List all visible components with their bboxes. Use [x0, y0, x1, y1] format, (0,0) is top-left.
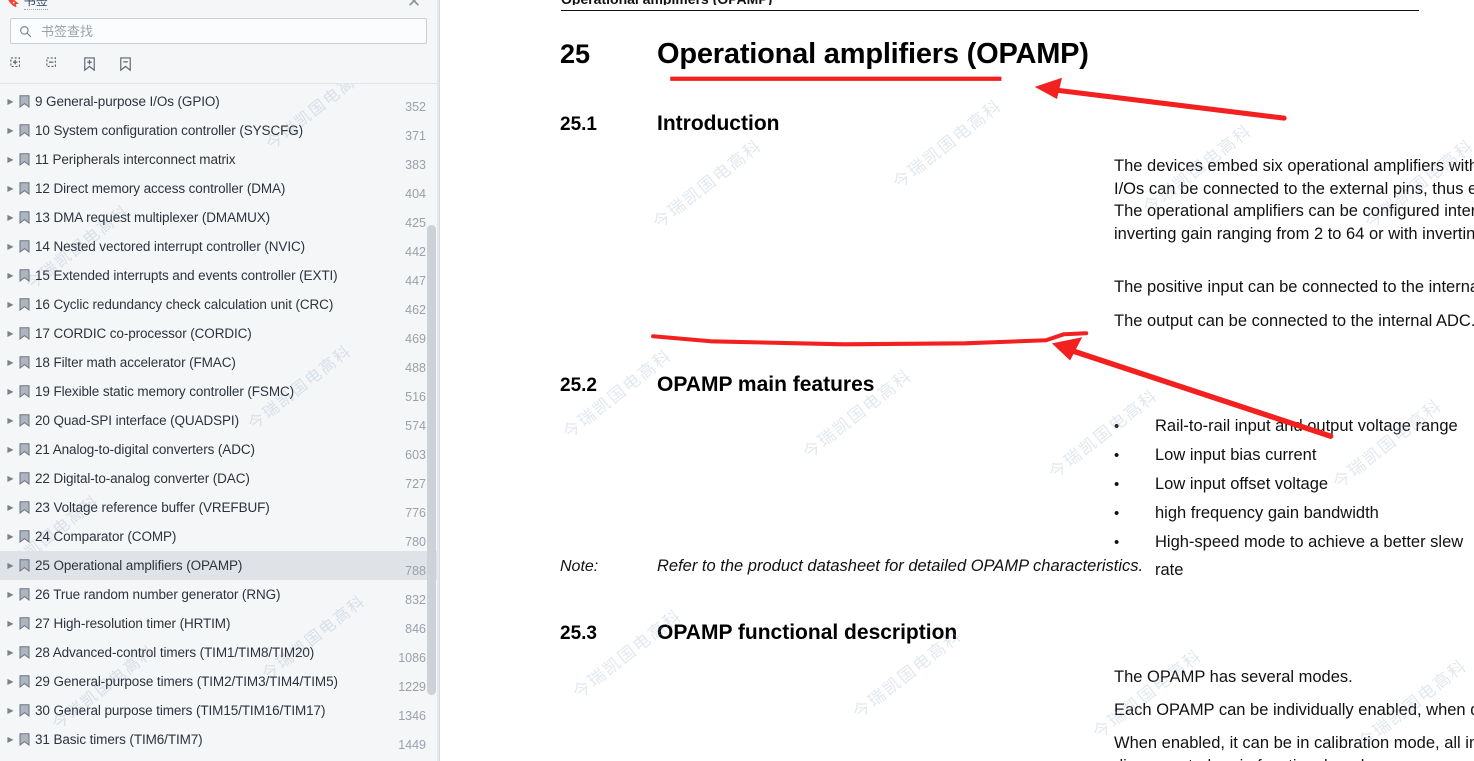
feature-bullet: •high frequency gain bandwidth [1114, 499, 1474, 528]
search-area [0, 12, 439, 44]
bookmark-label: 23 Voltage reference buffer (VREFBUF) [32, 500, 405, 515]
bookmark-icon [17, 327, 32, 340]
bookmark-label: 11 Peripherals interconnect matrix [32, 152, 405, 167]
watermark: 今瑞凯国电高科 [566, 602, 686, 704]
bookmark-row[interactable]: ▶25 Operational amplifiers (OPAMP)788 [0, 551, 439, 580]
bookmark-row[interactable]: ▶21 Analog-to-digital converters (ADC)60… [0, 435, 439, 464]
bookmark-label: 22 Digital-to-analog converter (DAC) [32, 471, 405, 486]
bookmark-label: 10 System configuration controller (SYSC… [32, 123, 405, 138]
tab-bookmarks[interactable]: 🔖 书签 [6, 0, 48, 10]
bookmark-icon [17, 617, 32, 630]
note-label: Note: [560, 558, 657, 576]
add-bookmark-icon[interactable] [78, 53, 100, 75]
bookmark-label: 14 Nested vectored interrupt controller … [32, 239, 405, 254]
bookmark-icon [17, 646, 32, 659]
watermark: 今瑞凯国电高科 [1086, 642, 1206, 744]
heading-25-number: 25 [560, 39, 657, 70]
bookmark-row[interactable]: ▶17 CORDIC co-processor (CORDIC)469 [0, 319, 439, 348]
remove-bookmark-icon[interactable] [114, 53, 136, 75]
bookmark-label: 24 Comparator (COMP) [32, 529, 405, 544]
chevron-right-icon[interactable]: ▶ [4, 243, 17, 251]
bookmark-label: 26 True random number generator (RNG) [32, 587, 405, 602]
paragraph-25-3-3: When enabled, it can be in calibration m… [1114, 732, 1474, 761]
bookmark-label: 27 High-resolution timer (HRTIM) [32, 616, 405, 631]
bookmark-label: 12 Direct memory access controller (DMA) [32, 181, 405, 196]
bookmark-row[interactable]: ▶26 True random number generator (RNG)83… [0, 580, 439, 609]
bookmark-row[interactable]: ▶16 Cyclic redundancy check calculation … [0, 290, 439, 319]
bookmark-row[interactable]: ▶15 Extended interrupts and events contr… [0, 261, 439, 290]
arrow-to-heading [1035, 78, 1284, 118]
feature-bullet-text: Low input offset voltage [1155, 470, 1328, 498]
feature-list: •Rail-to-rail input and output voltage r… [1114, 412, 1474, 584]
bookmark-label: 31 Basic timers (TIM6/TIM7) [32, 732, 398, 747]
chevron-right-icon[interactable]: ▶ [4, 301, 17, 309]
bullet-glyph: • [1114, 500, 1155, 528]
chevron-right-icon[interactable]: ▶ [4, 504, 17, 512]
bookmark-label: 28 Advanced-control timers (TIM1/TIM8/TI… [32, 645, 398, 660]
watermark: 今瑞凯国电高科 [646, 132, 766, 234]
heading-25: 25 Operational amplifiers (OPAMP) [560, 38, 1089, 71]
bookmark-icon [17, 95, 32, 108]
paragraph-25-1-3: The output can be connected to the inter… [1114, 310, 1474, 333]
bookmark-icon [17, 182, 32, 195]
header-rule [561, 10, 1419, 11]
chevron-right-icon[interactable]: ▶ [4, 359, 17, 367]
bookmark-row[interactable]: ▶22 Digital-to-analog converter (DAC)727 [0, 464, 439, 493]
bookmark-row[interactable]: ▶28 Advanced-control timers (TIM1/TIM8/T… [0, 638, 439, 667]
chevron-right-icon[interactable]: ▶ [4, 620, 17, 628]
search-icon [19, 25, 32, 38]
bookmark-icon [17, 443, 32, 456]
feature-bullet-text: high frequency gain bandwidth [1155, 499, 1379, 527]
pdf-page: Operational amplifiers (OPAMP) 25 Operat… [440, 0, 1474, 761]
bookmark-row[interactable]: ▶24 Comparator (COMP)780 [0, 522, 439, 551]
bookmark-toolbar [0, 44, 439, 84]
bookmark-list[interactable]: 今瑞凯国电高科 今瑞凯国电高科 今瑞凯国电高科 今瑞凯国电高科 今瑞凯国电高科 … [0, 84, 439, 755]
heading-25-2-title: OPAMP main features [657, 373, 874, 397]
bookmark-label: 18 Filter math accelerator (FMAC) [32, 355, 405, 370]
pdf-page-view[interactable]: Operational amplifiers (OPAMP) 25 Operat… [440, 0, 1474, 761]
chevron-right-icon[interactable]: ▶ [4, 562, 17, 570]
bullet-glyph: • [1114, 442, 1155, 470]
chevron-right-icon[interactable]: ▶ [4, 533, 17, 541]
bookmark-icon [17, 588, 32, 601]
note-text: Refer to the product datasheet for detai… [657, 557, 1143, 576]
sidebar-gutter [437, 0, 439, 761]
bookmarks-panel: 🔖 书签 ✕ [0, 0, 440, 761]
collapse-all-icon[interactable] [42, 53, 64, 75]
bookmark-icon [17, 472, 32, 485]
note-25-2: Note: Refer to the product datasheet for… [560, 557, 1143, 576]
bookmark-row[interactable]: ▶27 High-resolution timer (HRTIM)846 [0, 609, 439, 638]
feature-bullet-text: High-speed mode to achieve a better slew… [1155, 528, 1474, 584]
bookmark-icon [17, 298, 32, 311]
feature-bullet: •Low input bias current [1114, 441, 1474, 470]
heading-25-title: Operational amplifiers (OPAMP) [657, 38, 1089, 71]
bookmark-row[interactable]: ▶18 Filter math accelerator (FMAC)488 [0, 348, 439, 377]
chevron-right-icon[interactable]: ▶ [4, 127, 17, 135]
running-header: Operational amplifiers (OPAMP) [561, 0, 772, 5]
bookmark-icon [17, 211, 32, 224]
bookmark-icon [17, 153, 32, 166]
bookmark-row[interactable]: ▶11 Peripherals interconnect matrix383 [0, 145, 439, 174]
bookmark-row[interactable]: ▶13 DMA request multiplexer (DMAMUX)425 [0, 203, 439, 232]
bookmark-row[interactable]: ▶10 System configuration controller (SYS… [0, 116, 439, 145]
bookmark-icon [17, 385, 32, 398]
chevron-right-icon[interactable]: ▶ [4, 185, 17, 193]
heading-25-1-title: Introduction [657, 112, 779, 136]
bookmark-label: 15 Extended interrupts and events contro… [32, 268, 405, 283]
sidebar-scrollbar-thumb[interactable] [427, 225, 436, 695]
bookmark-row[interactable]: ▶12 Direct memory access controller (DMA… [0, 174, 439, 203]
chevron-right-icon[interactable]: ▶ [4, 678, 17, 686]
expand-all-icon[interactable] [6, 53, 28, 75]
underline-adc-sentence [653, 333, 1086, 344]
chevron-right-icon[interactable]: ▶ [4, 98, 17, 106]
bookmark-tab-icon: 🔖 [6, 0, 20, 8]
chevron-right-icon[interactable]: ▶ [4, 736, 17, 744]
chevron-right-icon[interactable]: ▶ [4, 214, 17, 222]
bookmark-label: 30 General purpose timers (TIM15/TIM16/T… [32, 703, 398, 718]
bookmark-row[interactable]: ▶23 Voltage reference buffer (VREFBUF)77… [0, 493, 439, 522]
bullet-glyph: • [1114, 471, 1155, 499]
bookmark-row[interactable]: ▶19 Flexible static memory controller (F… [0, 377, 439, 406]
close-icon[interactable]: ✕ [403, 0, 425, 12]
bookmark-row[interactable]: ▶9 General-purpose I/Os (GPIO)352 [0, 87, 439, 116]
chevron-right-icon[interactable]: ▶ [4, 475, 17, 483]
bookmark-icon [17, 414, 32, 427]
bullet-glyph: • [1114, 529, 1155, 557]
bookmark-icon [17, 733, 32, 746]
chevron-right-icon[interactable]: ▶ [4, 156, 17, 164]
bookmark-icon [17, 530, 32, 543]
bookmark-label: 21 Analog-to-digital converters (ADC) [32, 442, 405, 457]
bookmark-icon [17, 269, 32, 282]
bookmark-label: 29 General-purpose timers (TIM2/TIM3/TIM… [32, 674, 398, 689]
bookmark-label: 17 CORDIC co-processor (CORDIC) [32, 326, 405, 341]
bookmark-icon [17, 124, 32, 137]
tab-bookmarks-label: 书签 [24, 0, 48, 10]
bookmark-label: 16 Cyclic redundancy check calculation u… [32, 297, 405, 312]
watermark: 今瑞凯国电高科 [886, 92, 1006, 194]
chevron-right-icon[interactable]: ▶ [4, 417, 17, 425]
bookmark-icon [17, 675, 32, 688]
bookmark-icon [17, 704, 32, 717]
bookmark-label: 19 Flexible static memory controller (FS… [32, 384, 405, 399]
bookmark-label: 20 Quad-SPI interface (QUADSPI) [32, 413, 405, 428]
chevron-right-icon[interactable]: ▶ [4, 272, 17, 280]
chevron-right-icon[interactable]: ▶ [4, 707, 17, 715]
sidebar-scrollbar[interactable] [427, 0, 436, 761]
heading-25-1-number: 25.1 [560, 114, 657, 136]
search-box[interactable] [10, 18, 427, 44]
chevron-right-icon[interactable]: ▶ [4, 330, 17, 338]
bookmark-row[interactable]: ▶29 General-purpose timers (TIM2/TIM3/TI… [0, 667, 439, 696]
bookmark-label: 9 General-purpose I/Os (GPIO) [32, 94, 405, 109]
bookmark-row[interactable]: ▶20 Quad-SPI interface (QUADSPI)574 [0, 406, 439, 435]
chevron-right-icon[interactable]: ▶ [4, 591, 17, 599]
bookmark-label: 13 DMA request multiplexer (DMAMUX) [32, 210, 405, 225]
bookmark-label: 25 Operational amplifiers (OPAMP) [32, 558, 405, 573]
heading-25-3-title: OPAMP functional description [657, 621, 957, 645]
panel-tabstrip: 🔖 书签 ✕ [0, 0, 439, 12]
chevron-right-icon[interactable]: ▶ [4, 649, 17, 657]
bookmark-row[interactable]: ▶30 General purpose timers (TIM15/TIM16/… [0, 696, 439, 725]
bookmark-icon [17, 240, 32, 253]
pdf-reader-window: 🔖 书签 ✕ [0, 0, 1474, 761]
heading-25-1: 25.1 Introduction [560, 112, 779, 136]
bookmark-row[interactable]: ▶14 Nested vectored interrupt controller… [0, 232, 439, 261]
bookmark-icon [17, 356, 32, 369]
feature-bullet: •Low input offset voltage [1114, 470, 1474, 499]
bookmark-icon [17, 559, 32, 572]
bookmark-row[interactable]: ▶31 Basic timers (TIM6/TIM7)1449 [0, 725, 439, 754]
chevron-right-icon[interactable]: ▶ [4, 388, 17, 396]
feature-bullet-text: Low input bias current [1155, 441, 1316, 469]
search-input[interactable] [41, 24, 418, 39]
chevron-right-icon[interactable]: ▶ [4, 446, 17, 454]
bookmark-icon [17, 501, 32, 514]
paragraph-25-1-2: The positive input can be connected to t… [1114, 276, 1474, 299]
feature-bullet: •High-speed mode to achieve a better sle… [1114, 528, 1474, 584]
